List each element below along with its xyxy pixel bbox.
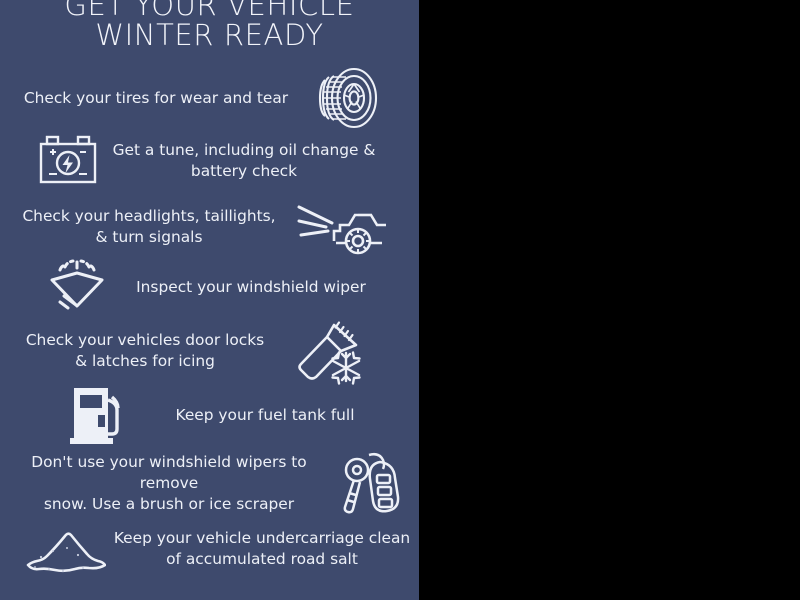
tip-text-wiper: Inspect your windshield wiper (116, 277, 386, 298)
tip-text-tune: Get a tune, including oil change & batte… (110, 140, 378, 182)
tip-text-tires: Check your tires for wear and tear (6, 88, 306, 109)
car-key-fob-icon (336, 447, 408, 519)
tire-icon (308, 60, 384, 136)
headlight-beam-icon (296, 197, 386, 257)
winter-vehicle-infographic: GET YOUR VEHICLE WINTER READY Check your… (0, 0, 419, 600)
page-title: GET YOUR VEHICLE WINTER READY (0, 0, 419, 50)
page-title-line-2: WINTER READY (0, 20, 419, 50)
tip-text-snow: Don't use your windshield wipers to remo… (4, 452, 334, 515)
tip-item-tires: Check your tires for wear and tear (0, 62, 419, 134)
tip-item-fuel: Keep your fuel tank full (0, 382, 419, 448)
windshield-washer-icon (46, 258, 108, 316)
tip-item-locks: Check your vehicles door locks & latches… (0, 318, 419, 384)
fuel-pump-icon (70, 384, 130, 446)
car-battery-icon (36, 132, 100, 190)
page-title-line-1: GET YOUR VEHICLE (0, 0, 419, 20)
ice-scraper-snowflake-icon (294, 315, 366, 387)
tip-text-fuel: Keep your fuel tank full (140, 405, 390, 426)
tip-item-tune: Get a tune, including oil change & batte… (0, 128, 419, 194)
tip-item-salt: Keep your vehicle undercarriage clean of… (0, 514, 419, 584)
tip-text-locks: Check your vehicles door locks & latches… (2, 330, 288, 372)
tip-item-lights: Check your headlights, taillights, & tur… (0, 196, 419, 258)
salt-pile-icon (22, 521, 106, 577)
screenshot-stage: GET YOUR VEHICLE WINTER READY Check your… (0, 0, 800, 600)
tip-text-salt: Keep your vehicle undercarriage clean of… (112, 528, 412, 570)
tip-item-snow: Don't use your windshield wipers to remo… (0, 450, 419, 516)
tip-text-lights: Check your headlights, taillights, & tur… (4, 206, 294, 248)
tip-item-wiper: Inspect your windshield wiper (0, 256, 419, 318)
